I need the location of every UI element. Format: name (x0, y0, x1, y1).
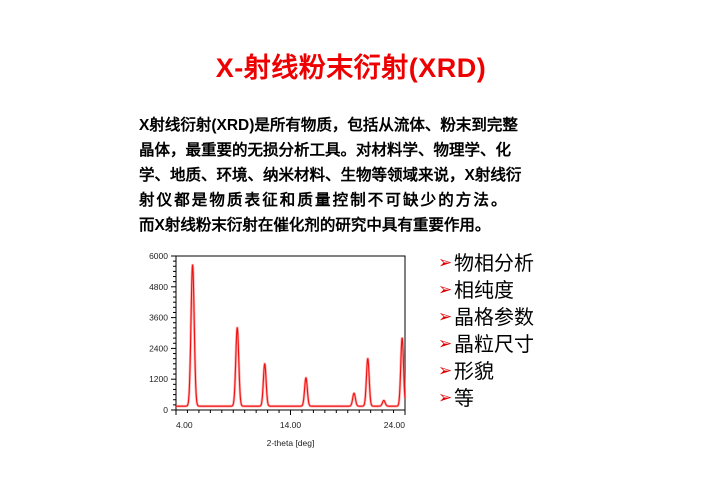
list-item-label: 相纯度 (454, 277, 514, 304)
x-tick-label: 4.00 (176, 420, 193, 430)
y-tick-label: 2400 (149, 343, 168, 353)
y-tick-label: 3600 (149, 313, 168, 323)
y-tick-label: 4800 (149, 282, 168, 292)
arrow-bullet-icon: ➢ (438, 277, 454, 304)
paragraph-line-5: 而X射线粉末衍射在催化剂的研究中具有重要作用。 (139, 213, 575, 238)
y-tick-label: 0 (163, 405, 168, 415)
spectrum-trace-glow (176, 265, 405, 406)
list-item: ➢ 等 (438, 385, 658, 412)
paragraph-line-1: X射线衍射(XRD)是所有物质，包括从流体、粉末到完整 (139, 113, 575, 138)
chart-canvas: 0120024003600480060004.0014.0024.002-the… (140, 248, 425, 453)
x-tick-label: 24.00 (384, 420, 406, 430)
list-item-label: 晶格参数 (454, 304, 534, 331)
y-tick-label: 1200 (149, 374, 168, 384)
list-item-label: 等 (454, 385, 474, 412)
arrow-bullet-icon: ➢ (438, 304, 454, 331)
paragraph-line-3: 学、地质、环境、纳米材料、生物等领域来说，X射线衍 (139, 163, 575, 188)
list-item: ➢ 物相分析 (438, 250, 658, 277)
list-item-label: 形貌 (454, 358, 494, 385)
arrow-bullet-icon: ➢ (438, 385, 454, 412)
list-item-label: 晶粒尺寸 (454, 331, 534, 358)
bullet-list: ➢ 物相分析 ➢ 相纯度 ➢ 晶格参数 ➢ 晶粒尺寸 ➢ 形貌 ➢ 等 (438, 250, 658, 412)
list-item: ➢ 相纯度 (438, 277, 658, 304)
list-item: ➢ 形貌 (438, 358, 658, 385)
arrow-bullet-icon: ➢ (438, 250, 454, 277)
paragraph-line-2: 晶体，最重要的无损分析工具。对材料学、物理学、化 (139, 138, 575, 163)
y-tick-label: 6000 (149, 251, 168, 261)
body-paragraph: X射线衍射(XRD)是所有物质，包括从流体、粉末到完整 晶体，最重要的无损分析工… (139, 113, 575, 238)
x-tick-label: 14.00 (280, 420, 302, 430)
arrow-bullet-icon: ➢ (438, 358, 454, 385)
paragraph-line-4: 射仪都是物质表征和质量控制不可缺少的方法。 (139, 188, 575, 213)
x-axis-title: 2-theta [deg] (267, 438, 315, 448)
list-item-label: 物相分析 (454, 250, 534, 277)
arrow-bullet-icon: ➢ (438, 331, 454, 358)
list-item: ➢ 晶粒尺寸 (438, 331, 658, 358)
xrd-diffraction-chart: 0120024003600480060004.0014.0024.002-the… (140, 248, 425, 453)
list-item: ➢ 晶格参数 (438, 304, 658, 331)
page-title: X-射线粉末衍射(XRD) (0, 46, 702, 85)
